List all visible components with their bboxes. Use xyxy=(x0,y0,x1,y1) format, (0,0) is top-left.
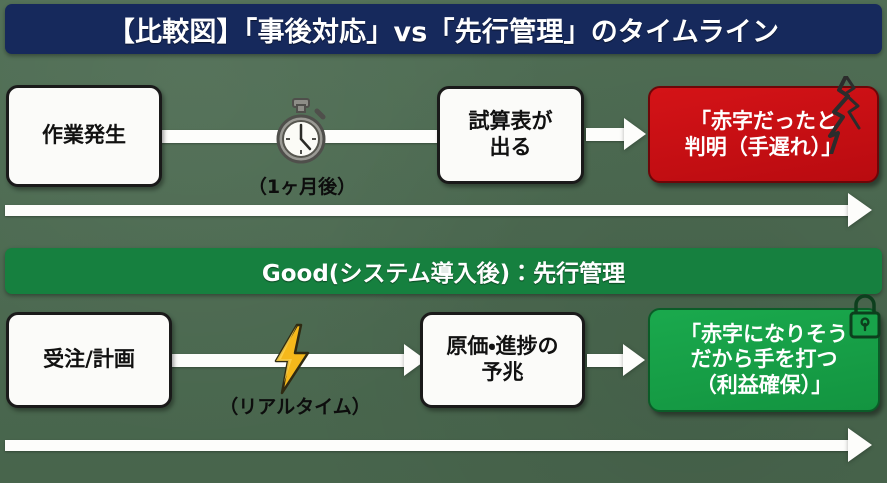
node-trial-balance-label: 試算表が 出る xyxy=(461,109,561,160)
connector-signal-to-act xyxy=(587,354,627,367)
node-order-plan-label: 受注/計画 xyxy=(35,347,143,373)
node-act-early-label: 「赤字になりそう だから手を打つ （利益確保）」 xyxy=(672,322,856,399)
section-banner-good-label: Good(システム導入後)：先行管理 xyxy=(262,254,625,288)
caption-realtime: （リアルタイム） xyxy=(210,392,380,419)
node-cost-progress-signal-label: 原価・進捗の 予兆 xyxy=(438,334,566,385)
stopwatch-icon xyxy=(270,97,332,165)
arrow-head-to-deficit xyxy=(624,118,646,150)
padlock-icon xyxy=(845,292,885,344)
crack-icon xyxy=(812,76,870,154)
page-title: 【比較図】「事後対応」vs「先行管理」のタイムライン xyxy=(108,10,779,49)
node-order-plan[interactable]: 受注/計画 xyxy=(6,312,172,408)
lightning-bolt-icon xyxy=(268,323,316,395)
arrow-head-to-act xyxy=(623,344,645,376)
timeline-rail-good xyxy=(5,440,850,451)
timeline-rail-bad xyxy=(5,205,850,216)
node-work-occurs[interactable]: 作業発生 xyxy=(6,85,162,187)
comparison-diagram-canvas: 【比較図】「事後対応」vs「先行管理」のタイムライン （1ヶ月後） 作業発生 xyxy=(0,0,887,483)
section-banner-good: Good(システム導入後)：先行管理 xyxy=(5,248,882,294)
timeline-arrow-icon-good xyxy=(848,428,872,462)
node-trial-balance[interactable]: 試算表が 出る xyxy=(437,86,584,184)
node-cost-progress-signal[interactable]: 原価・進捗の 予兆 xyxy=(420,312,585,408)
timeline-arrow-icon-bad xyxy=(848,193,872,227)
node-work-occurs-label: 作業発生 xyxy=(34,123,134,149)
caption-one-month-later: （1ヶ月後） xyxy=(222,172,382,199)
connector-trialbalance-to-deficit xyxy=(586,128,628,141)
page-title-bar: 【比較図】「事後対応」vs「先行管理」のタイムライン xyxy=(5,4,882,54)
